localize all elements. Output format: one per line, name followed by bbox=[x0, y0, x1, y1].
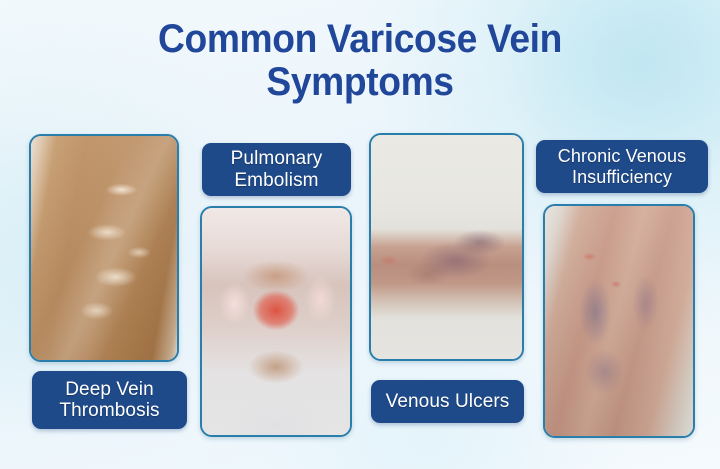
label-pulmonary-embolism-line-1: Pulmonary bbox=[231, 148, 323, 169]
label-chronic-venous-insufficiency[interactable]: Chronic Venous Insufficiency bbox=[536, 140, 708, 193]
card-chronic-venous-insufficiency[interactable]: Two lower legs showing prominent dark va… bbox=[543, 204, 695, 438]
photo-foot-ulcer bbox=[371, 135, 522, 359]
label-chronic-venous-insufficiency-line-2: Insufficiency bbox=[558, 167, 686, 187]
label-deep-vein-thrombosis[interactable]: Deep Vein Thrombosis bbox=[32, 371, 187, 429]
photo-legs-varicose-veins bbox=[545, 206, 693, 436]
label-chronic-venous-insufficiency-line-1: Chronic Venous bbox=[558, 146, 686, 166]
label-pulmonary-embolism[interactable]: Pulmonary Embolism bbox=[202, 143, 351, 196]
card-deep-vein-thrombosis[interactable]: Close-up photograph of a leg showing bul… bbox=[29, 134, 179, 362]
label-venous-ulcers-line-1: Venous Ulcers bbox=[386, 391, 510, 412]
photo-varicose-leg-closeup bbox=[31, 136, 177, 360]
page-title-line-2: Symptoms bbox=[25, 61, 695, 104]
infographic-root: Common Varicose Vein Symptoms Close-up p… bbox=[0, 0, 720, 469]
card-venous-ulcers[interactable]: Foot and ankle with dark mottled purple-… bbox=[369, 133, 524, 361]
label-deep-vein-thrombosis-line-2: Thrombosis bbox=[59, 400, 159, 421]
label-venous-ulcers[interactable]: Venous Ulcers bbox=[371, 380, 524, 423]
label-deep-vein-thrombosis-line-1: Deep Vein bbox=[59, 379, 159, 400]
card-pulmonary-embolism[interactable]: Elderly man in a white shirt clutching h… bbox=[200, 206, 352, 437]
photo-man-chest-pain bbox=[202, 208, 350, 435]
page-title-line-1: Common Varicose Vein bbox=[25, 18, 695, 61]
label-pulmonary-embolism-line-2: Embolism bbox=[231, 170, 323, 191]
page-title: Common Varicose Vein Symptoms bbox=[25, 18, 695, 104]
